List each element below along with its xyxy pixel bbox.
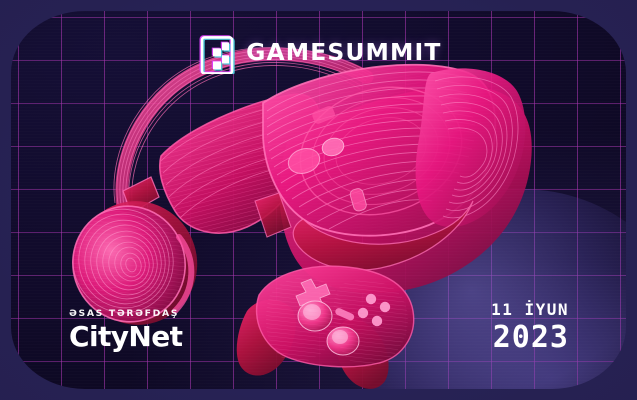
vr-side-body: [123, 81, 341, 251]
gamepad-analog-right: [327, 327, 359, 355]
event-date-year: 2023: [491, 323, 569, 353]
gamepad-dpad: [296, 279, 330, 312]
event-date-day: 11 İYUN: [491, 302, 569, 318]
main-partner-name: CityNet: [69, 323, 182, 351]
vr-endcap: [416, 68, 526, 227]
gamesummit-s-logo-icon: [197, 32, 235, 74]
gamepad-analog-left: [298, 301, 332, 331]
gamepad-face-buttons: [358, 294, 390, 326]
crt-screen: GAMESUMMIT ƏSAS TƏRƏFDAŞ CityNet 11 İYUN…: [11, 11, 626, 389]
brand-wordmark: GAMESUMMIT: [246, 42, 441, 65]
event-date-block: 11 İYUN 2023: [491, 302, 569, 353]
vr-visor: [241, 41, 541, 293]
event-poster: GAMESUMMIT ƏSAS TƏRƏFDAŞ CityNet 11 İYUN…: [0, 0, 637, 400]
gamepad: [237, 266, 431, 389]
vr-buttons: [285, 105, 367, 212]
main-partner-label: ƏSAS TƏRƏFDAŞ: [69, 309, 186, 319]
brand-header: GAMESUMMIT: [11, 32, 626, 74]
vr-lens-cavity: [285, 69, 477, 233]
corner-glow: [356, 189, 626, 389]
main-partner-block: ƏSAS TƏRƏFDAŞ CityNet: [69, 309, 182, 351]
